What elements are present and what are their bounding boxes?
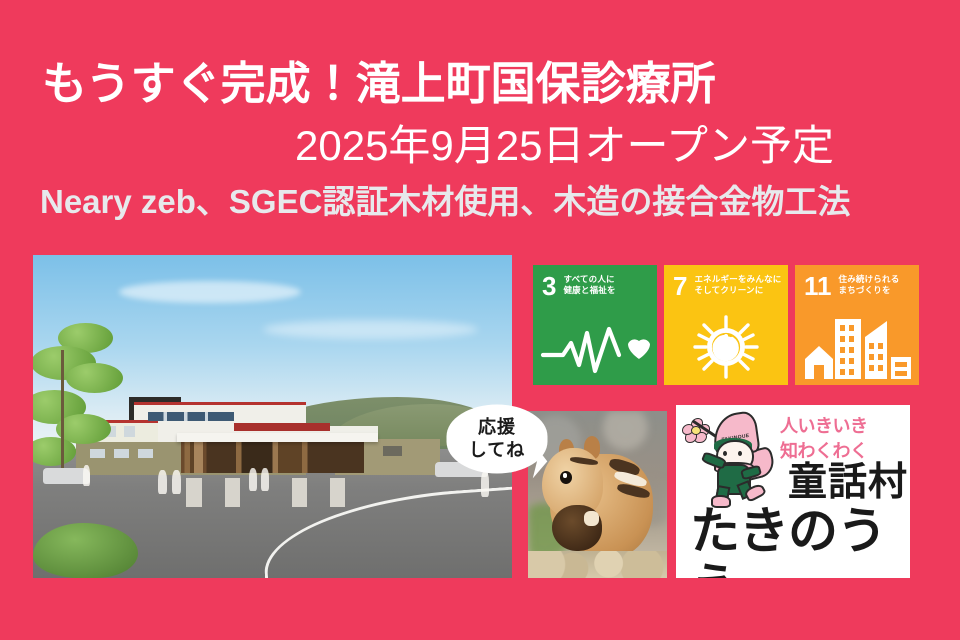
sdg-label: エネルギーをみんなに そしてクリーンに	[694, 274, 781, 296]
sdg-number: 3	[542, 274, 556, 298]
city-buildings-icon	[795, 315, 919, 379]
entrance-red-roof	[234, 423, 330, 431]
sdg-label: すべての人に 健康と福祉を	[563, 274, 615, 296]
sdg-tile-header: 3 すべての人に 健康と福祉を	[542, 274, 651, 298]
town-slogan-line-2: 知わくわく	[780, 441, 868, 461]
figure-person	[172, 470, 181, 494]
chipmunk-photo	[528, 411, 667, 578]
tree-foliage	[66, 363, 123, 393]
sdg-tile-row: 3 すべての人に 健康と福祉を 7 エネルギーをみんなに そしてクリーンに	[533, 265, 919, 385]
cloud-shape	[263, 320, 479, 339]
chipmunk-paw	[584, 511, 599, 526]
canopy-pillar-base	[330, 478, 345, 507]
town-logo-panel: TAKINOUE 人いきいき 知わくわく 童話村 たきのうえ	[676, 405, 910, 578]
sdg-label-line-1: すべての人に	[563, 274, 614, 284]
tree-trunk	[61, 350, 64, 474]
page-title: もうすぐ完成！滝上町国保診療所	[42, 58, 716, 110]
gravel-ground	[528, 551, 667, 578]
opening-date-title: 2025年9月25日オープン予定	[295, 121, 834, 171]
speech-bubble: 応援 してね	[448, 406, 546, 472]
sdg-label-line-2: そしてクリーンに	[694, 285, 763, 295]
canopy-pillar-base	[186, 478, 201, 507]
sdg-tile-header: 11 住み続けられる まちづくりを	[804, 274, 913, 298]
sdg-number: 7	[673, 274, 687, 298]
sdg-tile-11[interactable]: 11 住み続けられる まちづくりを	[795, 265, 919, 385]
speech-bubble-line-2: してね	[469, 440, 525, 460]
sdg-label-line-2: まちづくりを	[839, 285, 891, 295]
speech-bubble-text: 応援 してね	[469, 416, 525, 462]
sdg-label-line-1: 住み続けられる	[839, 274, 900, 284]
building-render-photo	[33, 255, 512, 578]
sdg-tile-header: 7 エネルギーをみんなに そしてクリーンに	[673, 274, 782, 298]
figure-person	[261, 468, 270, 491]
figure-person	[481, 471, 490, 497]
figure-person	[249, 468, 258, 491]
sdg-tile-7[interactable]: 7 エネルギーをみんなに そしてクリーンに	[664, 265, 788, 385]
sdg-label-line-2: 健康と福祉を	[563, 285, 615, 295]
building-window-strip	[148, 412, 234, 422]
heartbeat-icon	[533, 315, 657, 379]
entrance-canopy	[177, 433, 378, 443]
figure-person	[83, 465, 90, 486]
foreground-tree	[33, 320, 148, 488]
town-slogan-line-1: 人いきいき	[780, 416, 868, 436]
town-logo-title: 童話村	[788, 462, 908, 504]
sdg-label-line-1: エネルギーをみんなに	[694, 274, 781, 284]
sdg-number: 11	[804, 274, 832, 298]
takinoue-fairy-mascot-icon: TAKINOUE	[684, 411, 782, 507]
canopy-pillar-base	[225, 478, 240, 507]
town-logo-inner: TAKINOUE 人いきいき 知わくわく 童話村 たきのうえ	[676, 405, 910, 578]
sun-power-icon	[664, 315, 788, 379]
tree-foliage	[33, 437, 76, 466]
sdg-label: 住み続けられる まちづくりを	[839, 274, 900, 296]
town-slogan: 人いきいき 知わくわく	[780, 414, 904, 464]
foreground-bush	[33, 523, 138, 578]
building-window	[383, 446, 402, 456]
poster-canvas: もうすぐ完成！滝上町国保診療所 2025年9月25日オープン予定 Neary z…	[0, 0, 960, 640]
town-name-label: たきのうえ	[690, 503, 910, 578]
figure-person	[158, 470, 167, 494]
building-spec-subtitle: Neary zeb、SGEC認証木材使用、木造の接合金物工法	[40, 182, 850, 222]
entrance-wood-columns	[181, 442, 363, 473]
speech-bubble-line-1: 応援	[478, 417, 516, 437]
canopy-pillar-base	[292, 478, 307, 507]
sdg-tile-3[interactable]: 3 すべての人に 健康と福祉を	[533, 265, 657, 385]
